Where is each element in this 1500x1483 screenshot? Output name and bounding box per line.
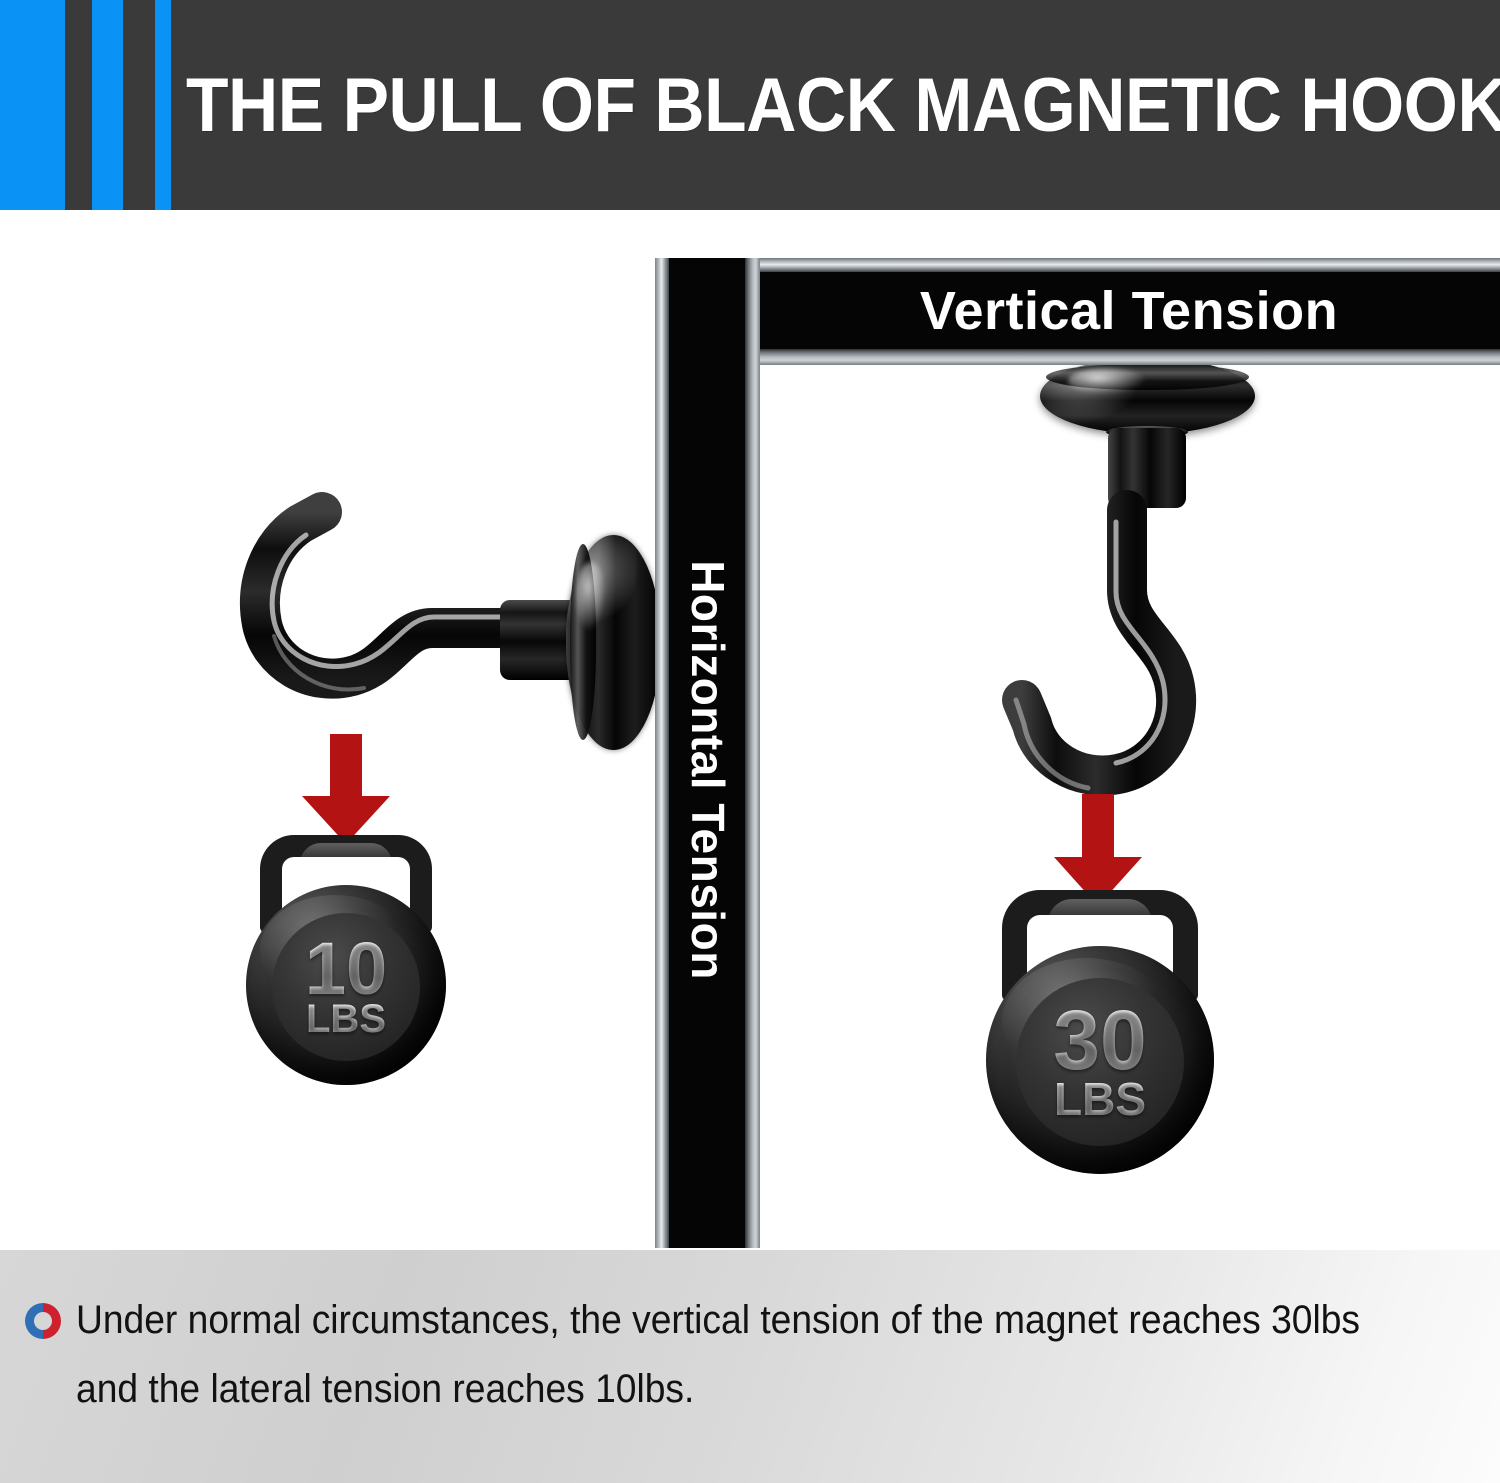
kettlebell-handle-gloss (300, 843, 392, 867)
kettlebell-face: 30 LBS (1016, 978, 1184, 1146)
page-title: THE PULL OF BLACK MAGNETIC HOOK (186, 0, 1376, 210)
vertical-tension-assembly: 30 LBS (940, 210, 1460, 1248)
down-arrow-icon-left (300, 734, 392, 844)
ceiling-magnet-highlight (1068, 368, 1146, 394)
horizontal-tension-label-text: Horizontal Tension (681, 560, 735, 980)
weight-unit: LBS (1054, 1076, 1146, 1122)
wall-magnet-highlight (576, 562, 606, 632)
weight-10lbs: 10 LBS (238, 835, 454, 1090)
weight-number: 30 (1053, 1002, 1146, 1079)
kettlebell-handle-gloss (1048, 899, 1152, 926)
horizontal-tension-assembly: 10 LBS (0, 210, 700, 1248)
product-diagram: 10 LBS Vertical Tension Horizontal Tensi… (0, 210, 1500, 1248)
weight-number: 10 (305, 935, 387, 1003)
weight-30lbs: 30 LBS (978, 890, 1222, 1180)
accent-stripe-wide (0, 0, 65, 210)
kettlebell-face: 10 LBS (272, 913, 420, 1061)
accent-stripe-thin (155, 0, 171, 210)
caption-panel: Under normal circumstances, the vertical… (0, 1248, 1500, 1483)
weight-unit: LBS (306, 999, 386, 1039)
horizontal-hook-icon (214, 496, 524, 726)
magnet-poles-ring-icon (22, 1300, 64, 1347)
caption-text: Under normal circumstances, the vertical… (76, 1286, 1374, 1424)
vertical-tension-label: Vertical Tension (758, 258, 1500, 363)
header-banner: THE PULL OF BLACK MAGNETIC HOOK (0, 0, 1500, 210)
accent-stripe-medium (92, 0, 123, 210)
vertical-hook-icon (960, 500, 1260, 810)
horizontal-tension-label: Horizontal Tension (655, 258, 760, 1248)
